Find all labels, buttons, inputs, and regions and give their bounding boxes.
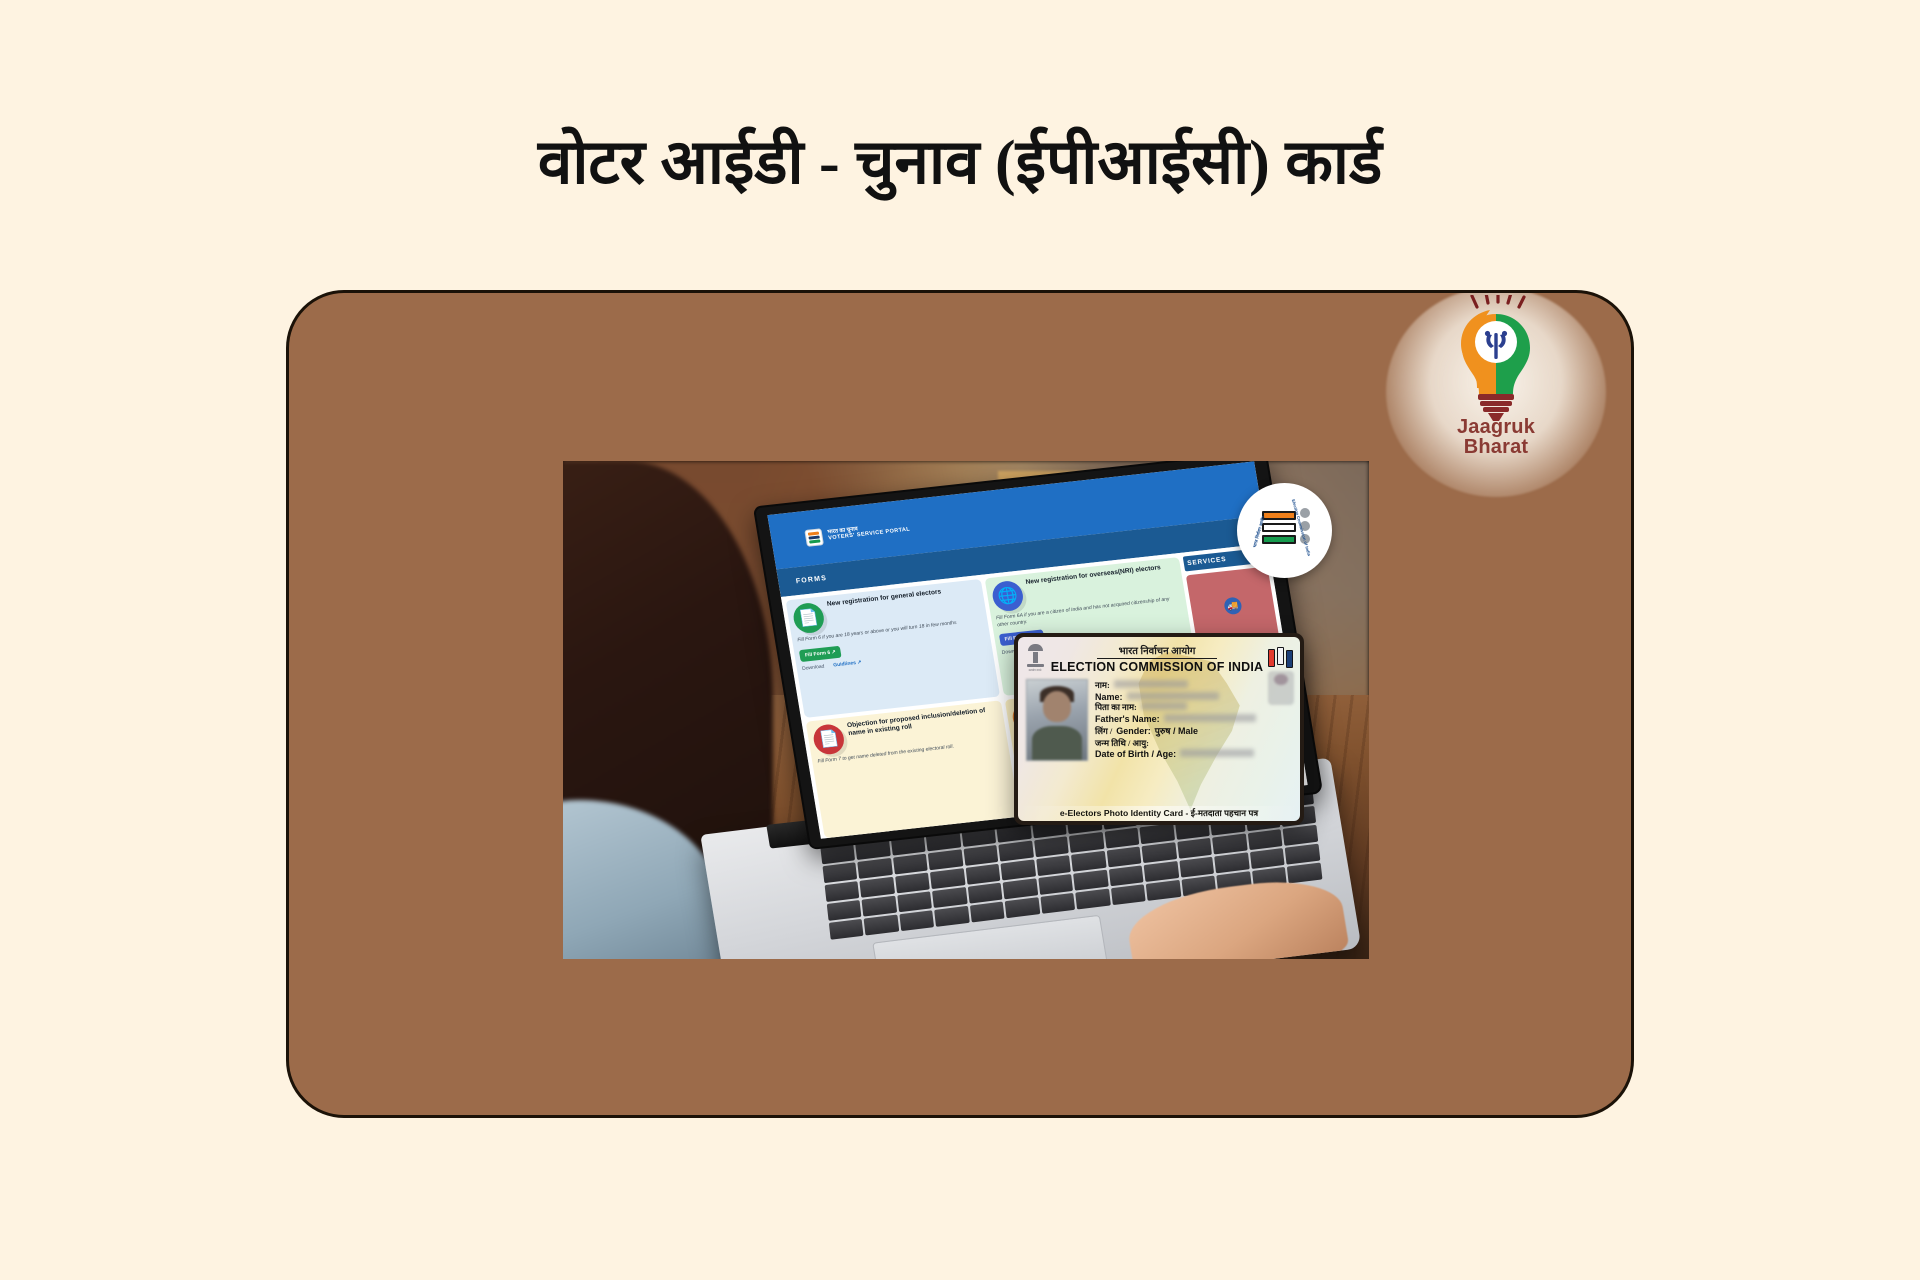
- field-label: Date of Birth / Age:: [1095, 749, 1176, 759]
- field-dob-en: Date of Birth / Age:: [1095, 749, 1292, 759]
- field-name-en: Name:: [1095, 692, 1292, 702]
- field-gender: लिंग / Gender: पुरुष / Male: [1095, 724, 1292, 737]
- guidelines-link[interactable]: Guidlines ↗: [833, 659, 862, 668]
- form-card-title: New registration for overseas(NRI) elect…: [1025, 564, 1161, 587]
- redacted-value: [1127, 692, 1219, 700]
- voter-id-card-face: सत्यमेव जयते भारत निर्वाचन आयोग ELECTION…: [1018, 637, 1300, 821]
- voter-card-titles: भारत निर्वाचन आयोग ELECTION COMMISSION O…: [1050, 641, 1264, 674]
- truck-icon: 🚚: [1223, 597, 1243, 616]
- field-father-hi: पिता का नाम:: [1095, 702, 1292, 713]
- voter-card-body: नाम: Name: पिता का नाम: Father's Name:: [1018, 676, 1300, 761]
- voter-photo: [1026, 679, 1088, 761]
- form-card[interactable]: 📄 Objection for proposed inclusion/delet…: [806, 700, 1020, 838]
- lightbulb-heads-icon: [1436, 295, 1556, 423]
- page-title: वोटर आईडी - चुनाव (ईपीआईसी) कार्ड: [0, 128, 1920, 199]
- form6-icon: 📄: [792, 602, 827, 635]
- evm-machine-icon: [1268, 647, 1294, 669]
- form-card-title: New registration for general electors: [826, 589, 941, 610]
- redacted-value: [1180, 749, 1254, 757]
- voter-card-header-en: ELECTION COMMISSION OF INDIA: [1050, 660, 1264, 674]
- ghost-photo-watermark: [1268, 671, 1294, 705]
- field-label: पिता का नाम:: [1095, 702, 1137, 713]
- brand-text: Jaagruk Bharat: [1457, 417, 1535, 457]
- brand-line-1: Jaagruk: [1457, 417, 1535, 437]
- eci-badge-text-en: Election Commission of India: [1291, 499, 1312, 557]
- eci-badge-text-hi: भारत निर्वाचन आयोग: [1252, 515, 1267, 548]
- eci-logo-icon: [805, 528, 825, 547]
- field-label: Name:: [1095, 692, 1123, 702]
- voter-card-footer: e-Electors Photo Identity Card - ई-मतदात…: [1018, 806, 1300, 821]
- voter-card-fields: नाम: Name: पिता का नाम: Father's Name:: [1095, 679, 1292, 761]
- form6a-icon: 🌐: [990, 580, 1025, 613]
- redacted-value: [1114, 680, 1188, 688]
- field-label-hi: लिंग /: [1095, 726, 1112, 737]
- redacted-value: [1141, 702, 1187, 710]
- brand-line-2: Bharat: [1457, 437, 1535, 457]
- field-dob-hi: जन्म तिथि / आयु:: [1095, 738, 1292, 749]
- voter-id-card: सत्यमेव जयते भारत निर्वाचन आयोग ELECTION…: [1014, 633, 1304, 825]
- field-father-en: Father's Name:: [1095, 714, 1292, 724]
- voter-card-header: सत्यमेव जयते भारत निर्वाचन आयोग ELECTION…: [1018, 637, 1300, 676]
- form-card[interactable]: 📄 New registration for general electors …: [786, 579, 1000, 717]
- field-name-hi: नाम:: [1095, 680, 1292, 691]
- field-value: पुरुष / Male: [1155, 724, 1198, 737]
- hero-card: Jaagruk Bharat: [286, 290, 1634, 1118]
- jaagruk-bharat-logo: Jaagruk Bharat: [1391, 290, 1601, 494]
- field-label-en: Gender:: [1116, 726, 1151, 736]
- emblem-caption: सत्यमेव जयते: [1029, 668, 1042, 672]
- fill-form-button[interactable]: Fill Form 6 ↗: [799, 645, 842, 661]
- voter-card-header-hi: भारत निर्वाचन आयोग: [1097, 643, 1218, 659]
- ashoka-emblem-icon: सत्यमेव जयते: [1024, 644, 1046, 672]
- field-label: जन्म तिथि / आयु:: [1095, 738, 1149, 749]
- field-label: Father's Name:: [1095, 714, 1160, 724]
- eci-badge-ring-text: भारत निर्वाचन आयोग Election Commission o…: [1241, 487, 1328, 574]
- form7-icon: 📄: [812, 723, 847, 756]
- field-label: नाम:: [1095, 680, 1110, 691]
- download-link[interactable]: Download: [802, 663, 825, 671]
- redacted-value: [1164, 714, 1256, 722]
- election-commission-of-india-badge: भारत निर्वाचन आयोग Election Commission o…: [1237, 483, 1332, 578]
